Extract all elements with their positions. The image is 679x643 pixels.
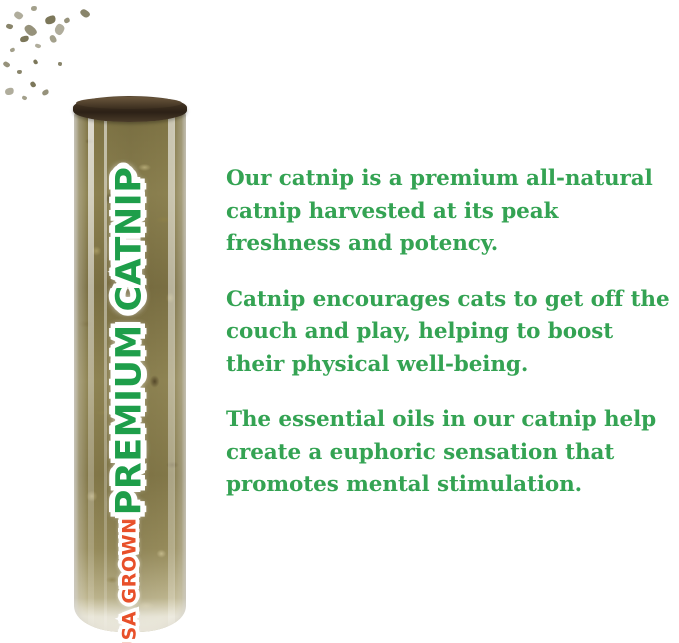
- catnip-flake: [9, 47, 15, 53]
- catnip-flake: [48, 34, 58, 44]
- product-sticker-label: CANADA & USA GROWN PREMIUM CATNIP: [113, 167, 148, 643]
- catnip-flake: [30, 5, 37, 11]
- catnip-flake: [35, 43, 42, 48]
- catnip-flake: [58, 62, 62, 66]
- catnip-flake: [2, 61, 10, 69]
- catnip-flake: [41, 88, 50, 96]
- catnip-flake: [63, 17, 71, 25]
- tube-cap-top-surface: [76, 97, 182, 109]
- catnip-flake: [22, 95, 28, 100]
- label-title-premium-catnip: PREMIUM CATNIP: [113, 167, 148, 516]
- catnip-flake: [4, 87, 15, 97]
- catnip-flake: [79, 8, 91, 19]
- catnip-flake: [17, 70, 23, 75]
- catnip-flake: [44, 14, 57, 26]
- catnip-product-tube: CANADA & USA GROWN PREMIUM CATNIP: [74, 96, 186, 634]
- label-subtitle-canada-usa-grown: CANADA & USA GROWN: [121, 517, 140, 643]
- catnip-flake: [19, 35, 30, 44]
- marketing-copy-block: Our catnip is a premium all-natural catn…: [226, 163, 676, 502]
- tube-cap: [73, 96, 187, 122]
- catnip-flake: [6, 24, 14, 30]
- catnip-flake: [13, 11, 24, 21]
- glass-highlight-left: [88, 110, 94, 632]
- copy-paragraph-3: The essential oils in our catnip help cr…: [226, 404, 676, 502]
- copy-paragraph-2: Catnip encourages cats to get off the co…: [226, 284, 676, 382]
- glass-highlight-right: [168, 110, 175, 632]
- catnip-flake: [29, 81, 37, 89]
- catnip-flake: [32, 59, 38, 65]
- catnip-flake: [54, 23, 66, 36]
- glass-highlight-inner: [104, 110, 107, 632]
- product-marketing-image: CANADA & USA GROWN PREMIUM CATNIP Our ca…: [0, 0, 679, 643]
- copy-paragraph-1: Our catnip is a premium all-natural catn…: [226, 163, 676, 261]
